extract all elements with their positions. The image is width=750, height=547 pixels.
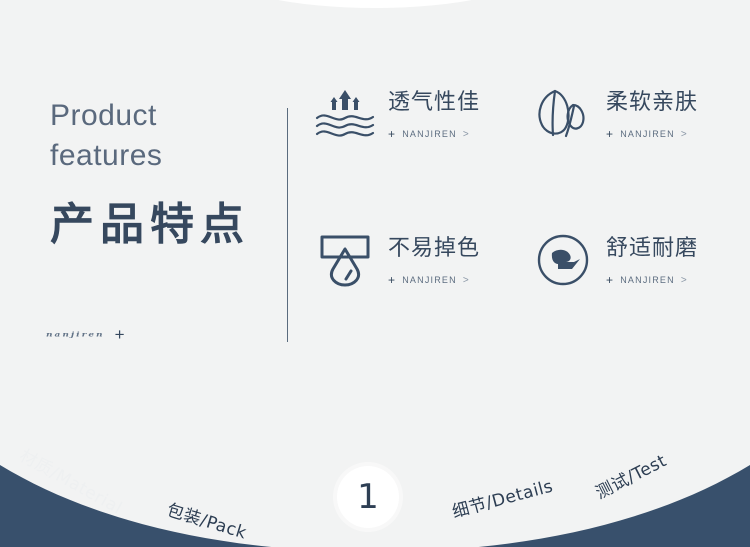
feature-title: 柔软亲肤 [606, 90, 698, 116]
plus-icon: + [606, 128, 614, 140]
top-curve-decoration [225, 0, 525, 8]
feature-item[interactable]: 柔软亲肤 + NANJIREN > [530, 86, 742, 142]
step-number: 1 [357, 480, 379, 514]
feature-brand-link[interactable]: + NANJIREN > [606, 128, 698, 140]
feature-item[interactable]: 透气性佳 + NANJIREN > [312, 86, 530, 142]
plus-icon: + [606, 274, 614, 286]
title-english-line2: features [50, 136, 280, 176]
plus-icon: + [388, 274, 396, 286]
feature-text: 透气性佳 + NANJIREN > [388, 86, 480, 140]
step-badge: 1 [337, 466, 399, 528]
brand-label: NANJIREN [620, 129, 675, 139]
feature-text: 舒适耐磨 + NANJIREN > [606, 232, 698, 286]
features-grid: 透气性佳 + NANJIREN > [312, 86, 742, 288]
brand-label: NANJIREN [402, 275, 457, 285]
chevron-right-icon: > [463, 275, 470, 286]
feature-brand-link[interactable]: + NANJIREN > [388, 274, 480, 286]
colorfast-droplet-icon [312, 232, 378, 288]
product-features-page: Product features 产品特点 nanjiren + [0, 0, 750, 547]
plus-icon: + [388, 128, 396, 140]
feature-text: 柔软亲肤 + NANJIREN > [606, 86, 698, 140]
chevron-right-icon: > [463, 129, 470, 140]
feature-item[interactable]: 舒适耐磨 + NANJIREN > [530, 232, 742, 288]
feature-brand-link[interactable]: + NANJIREN > [388, 128, 480, 140]
plus-icon: + [115, 326, 125, 343]
page-title: Product features 产品特点 [50, 96, 280, 252]
feature-title: 不易掉色 [388, 236, 480, 262]
title-chinese: 产品特点 [50, 198, 280, 252]
cotton-leaf-icon [530, 86, 596, 142]
feature-title: 舒适耐磨 [606, 236, 698, 262]
title-english: Product features [50, 96, 280, 176]
feature-item[interactable]: 不易掉色 + NANJIREN > [312, 232, 530, 288]
chevron-right-icon: > [681, 129, 688, 140]
durable-muscle-icon [530, 232, 596, 288]
brand-label: NANJIREN [402, 129, 457, 139]
feature-brand-link[interactable]: + NANJIREN > [606, 274, 698, 286]
title-english-line1: Product [50, 96, 280, 136]
brand-script-text: nanjiren [46, 331, 105, 339]
breathable-waves-icon [312, 86, 378, 142]
feature-text: 不易掉色 + NANJIREN > [388, 232, 480, 286]
chevron-right-icon: > [681, 275, 688, 286]
vertical-divider [287, 108, 288, 342]
brand-signature: nanjiren + [46, 326, 125, 343]
brand-label: NANJIREN [620, 275, 675, 285]
feature-title: 透气性佳 [388, 90, 480, 116]
